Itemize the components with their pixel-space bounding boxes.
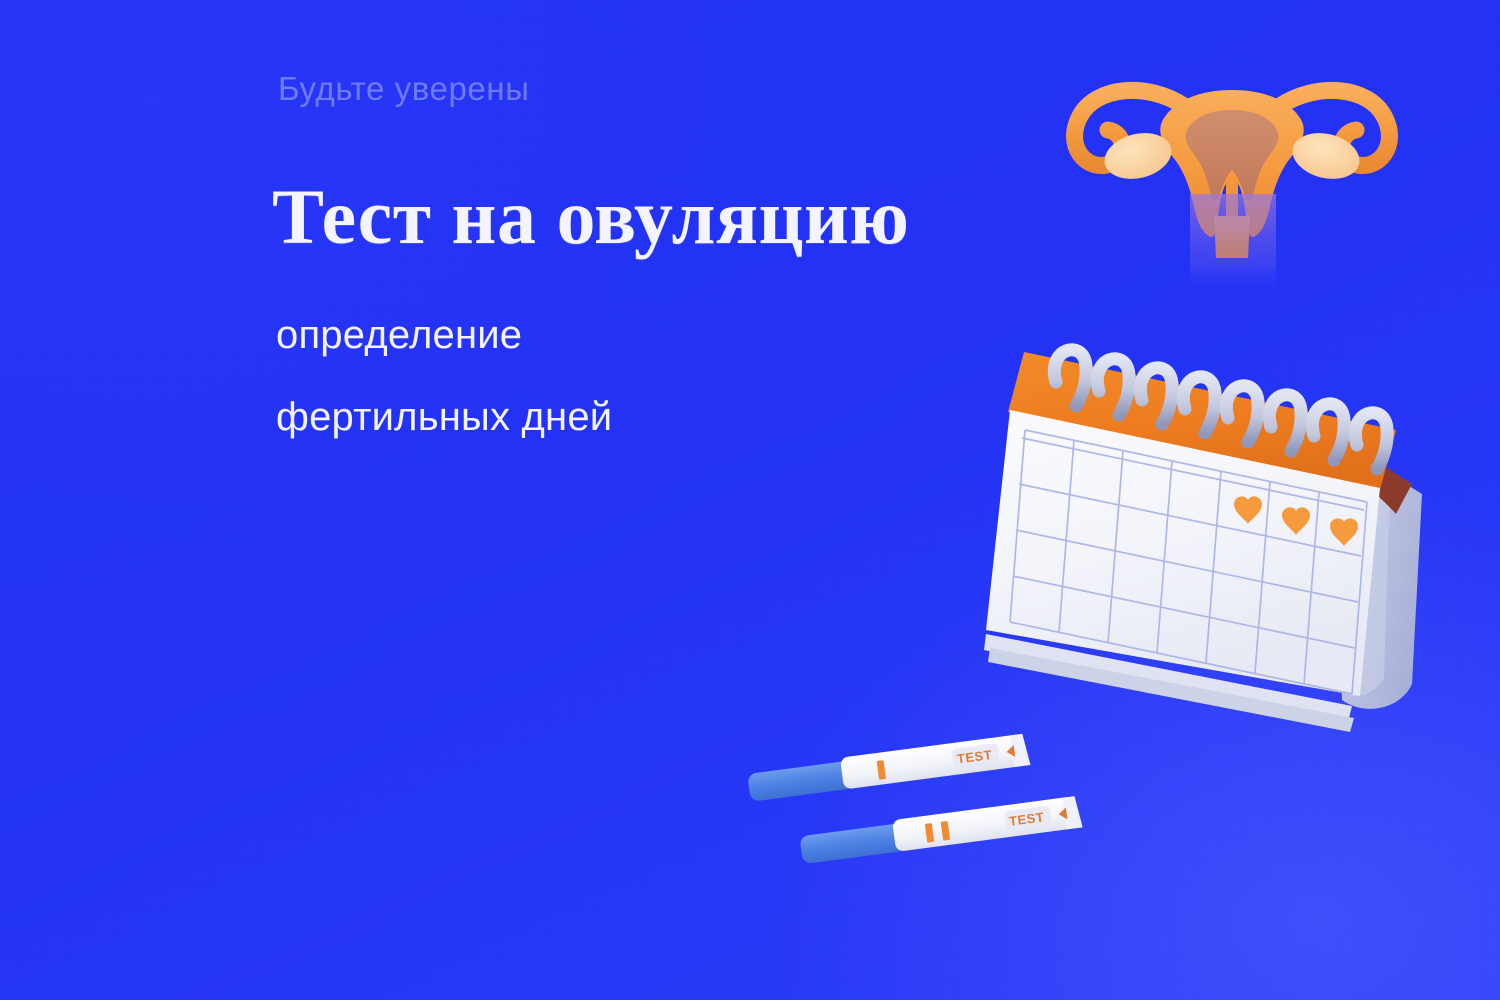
promo-poster: Будьте уверены Тест на овуляцию определе…: [0, 0, 1500, 1000]
ovulation-test-strips: TEST TEST: [730, 712, 1210, 882]
calendar-svg: [960, 318, 1480, 748]
desk-calendar-illustration: [960, 318, 1480, 748]
test-strips-svg: TEST TEST: [730, 712, 1210, 882]
strip-absorbent-handle: [747, 760, 856, 802]
headline-block: Будьте уверены Тест на овуляцию определе…: [272, 72, 1032, 437]
uterus-fade-overlay: [1190, 194, 1276, 294]
subtitle-line-2: фертильных дней: [276, 397, 1032, 437]
subtitle-line-1: определение: [276, 315, 1032, 355]
page-title: Тест на овуляцию: [272, 177, 1032, 257]
strip-absorbent-handle: [799, 823, 908, 865]
eyebrow-text: Будьте уверены: [278, 72, 1032, 105]
ovulation-test-strip-positive: TEST: [799, 796, 1083, 865]
uterus-illustration: [1052, 44, 1412, 294]
ovulation-test-strip-negative: TEST: [747, 733, 1031, 802]
uterus-svg: [1052, 44, 1412, 294]
